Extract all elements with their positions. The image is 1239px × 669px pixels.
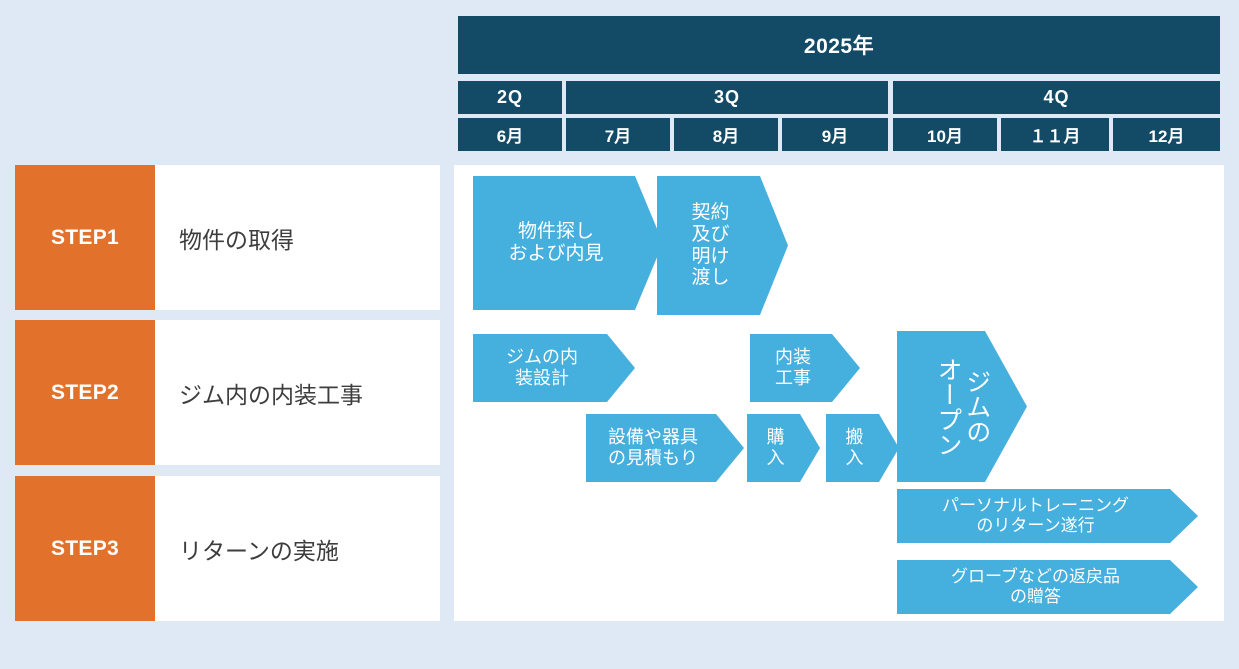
step-title: リターンの実施 — [155, 476, 440, 621]
quarter-cell: 4Q — [893, 81, 1220, 114]
task-arrow-equipment-quotation: 設備や器具 の見積もり — [586, 414, 744, 482]
task-arrow-gym-opening: ジムの オープン — [897, 331, 1027, 482]
step-row: STEP1物件の取得 — [15, 165, 440, 310]
month-cell: １１月 — [1001, 118, 1109, 151]
gantt-roadmap-slide: 2025年 2Q3Q4Q 6月7月8月9月10月１１月12月 STEP1物件の取… — [0, 0, 1239, 669]
month-cell: 8月 — [674, 118, 778, 151]
task-arrow-delivery-carry-in: 搬 入 — [826, 414, 899, 482]
quarter-header-row: 2Q3Q4Q — [458, 81, 1220, 114]
month-cell: 9月 — [782, 118, 888, 151]
step-badge: STEP3 — [15, 476, 155, 621]
month-header-row: 6月7月8月9月10月１１月12月 — [458, 118, 1220, 151]
month-cell: 7月 — [566, 118, 670, 151]
task-arrow-property-search-and-viewing: 物件探し および内見 — [473, 176, 663, 310]
month-cell: 6月 — [458, 118, 562, 151]
task-arrow-personal-training-return: パーソナルトレーニング のリターン遂行 — [897, 489, 1198, 543]
task-arrow-glove-gift-return: グローブなどの返戻品 の贈答 — [897, 560, 1198, 614]
timeline-year-header: 2025年 — [458, 16, 1220, 74]
month-cell: 12月 — [1113, 118, 1220, 151]
quarter-cell: 3Q — [566, 81, 888, 114]
step-row: STEP2ジム内の内装工事 — [15, 320, 440, 465]
timeline-chart-panel: 物件探し および内見契約 及び 明け 渡しジムの内 装設計内装 工事設備や器具 … — [454, 165, 1224, 621]
task-arrow-interior-construction: 内装 工事 — [750, 334, 860, 402]
task-arrow-gym-interior-design: ジムの内 装設計 — [473, 334, 635, 402]
task-arrow-purchase: 購 入 — [747, 414, 820, 482]
step-badge: STEP1 — [15, 165, 155, 310]
month-cell: 10月 — [893, 118, 997, 151]
step-row: STEP3リターンの実施 — [15, 476, 440, 621]
task-arrow-contract-and-handover: 契約 及び 明け 渡し — [657, 176, 788, 315]
step-badge: STEP2 — [15, 320, 155, 465]
quarter-cell: 2Q — [458, 81, 562, 114]
step-title: ジム内の内装工事 — [155, 320, 440, 465]
step-title: 物件の取得 — [155, 165, 440, 310]
